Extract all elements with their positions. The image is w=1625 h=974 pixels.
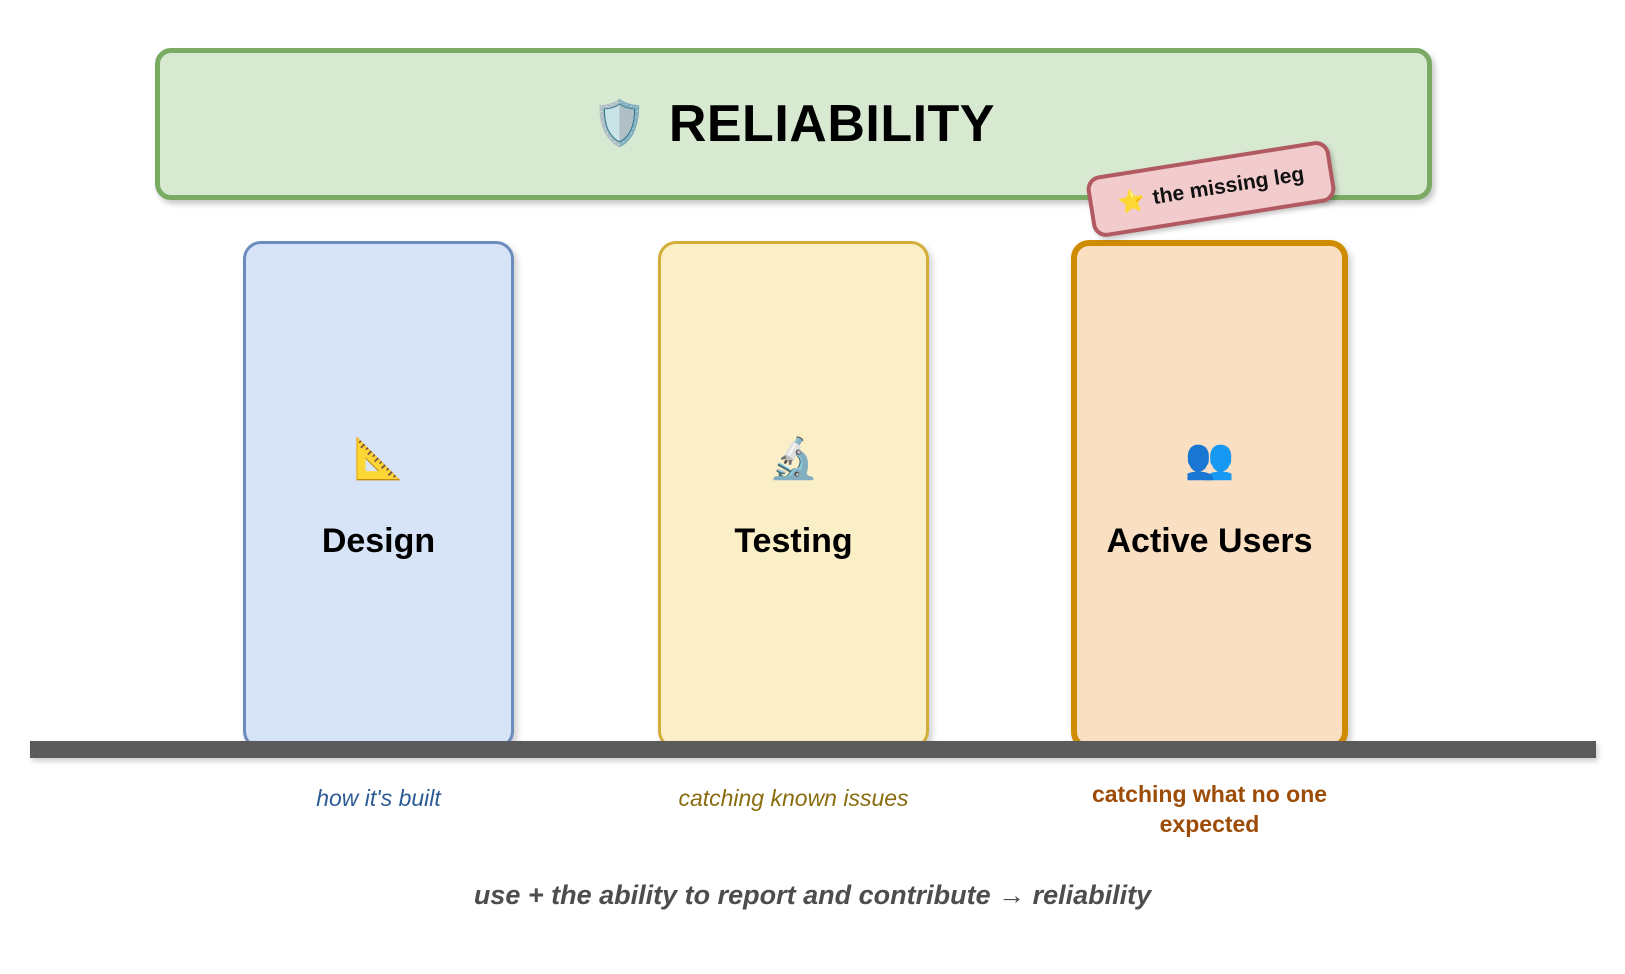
caption-design: how it's built [243,784,514,814]
pillar-testing-label: Testing [661,522,926,561]
banner-content: 🛡️ RELIABILITY [592,94,995,154]
badge-label: the missing leg [1151,162,1306,210]
pillar-active-users: 👥 Active Users [1071,240,1348,750]
banner-title: RELIABILITY [669,94,995,154]
star-icon: ⭐ [1116,189,1147,215]
caption-testing: catching known issues [658,784,929,814]
pillar-active-users-label: Active Users [1077,522,1342,561]
caption-active-users: catching what no one expected [1053,780,1366,840]
shield-icon: 🛡️ [592,102,647,146]
diagram-canvas: 🛡️ RELIABILITY ⭐ the missing leg 📐 Desig… [0,0,1625,974]
pillar-design: 📐 Design [243,241,514,749]
microscope-icon: 🔬 [661,439,926,479]
pillar-design-label: Design [246,522,511,561]
ground-bar [30,741,1596,758]
triangular-ruler-icon: 📐 [246,439,511,479]
pillar-testing: 🔬 Testing [658,241,929,749]
summary-formula: use + the ability to report and contribu… [0,880,1625,911]
busts-in-silhouette-icon: 👥 [1077,439,1342,479]
